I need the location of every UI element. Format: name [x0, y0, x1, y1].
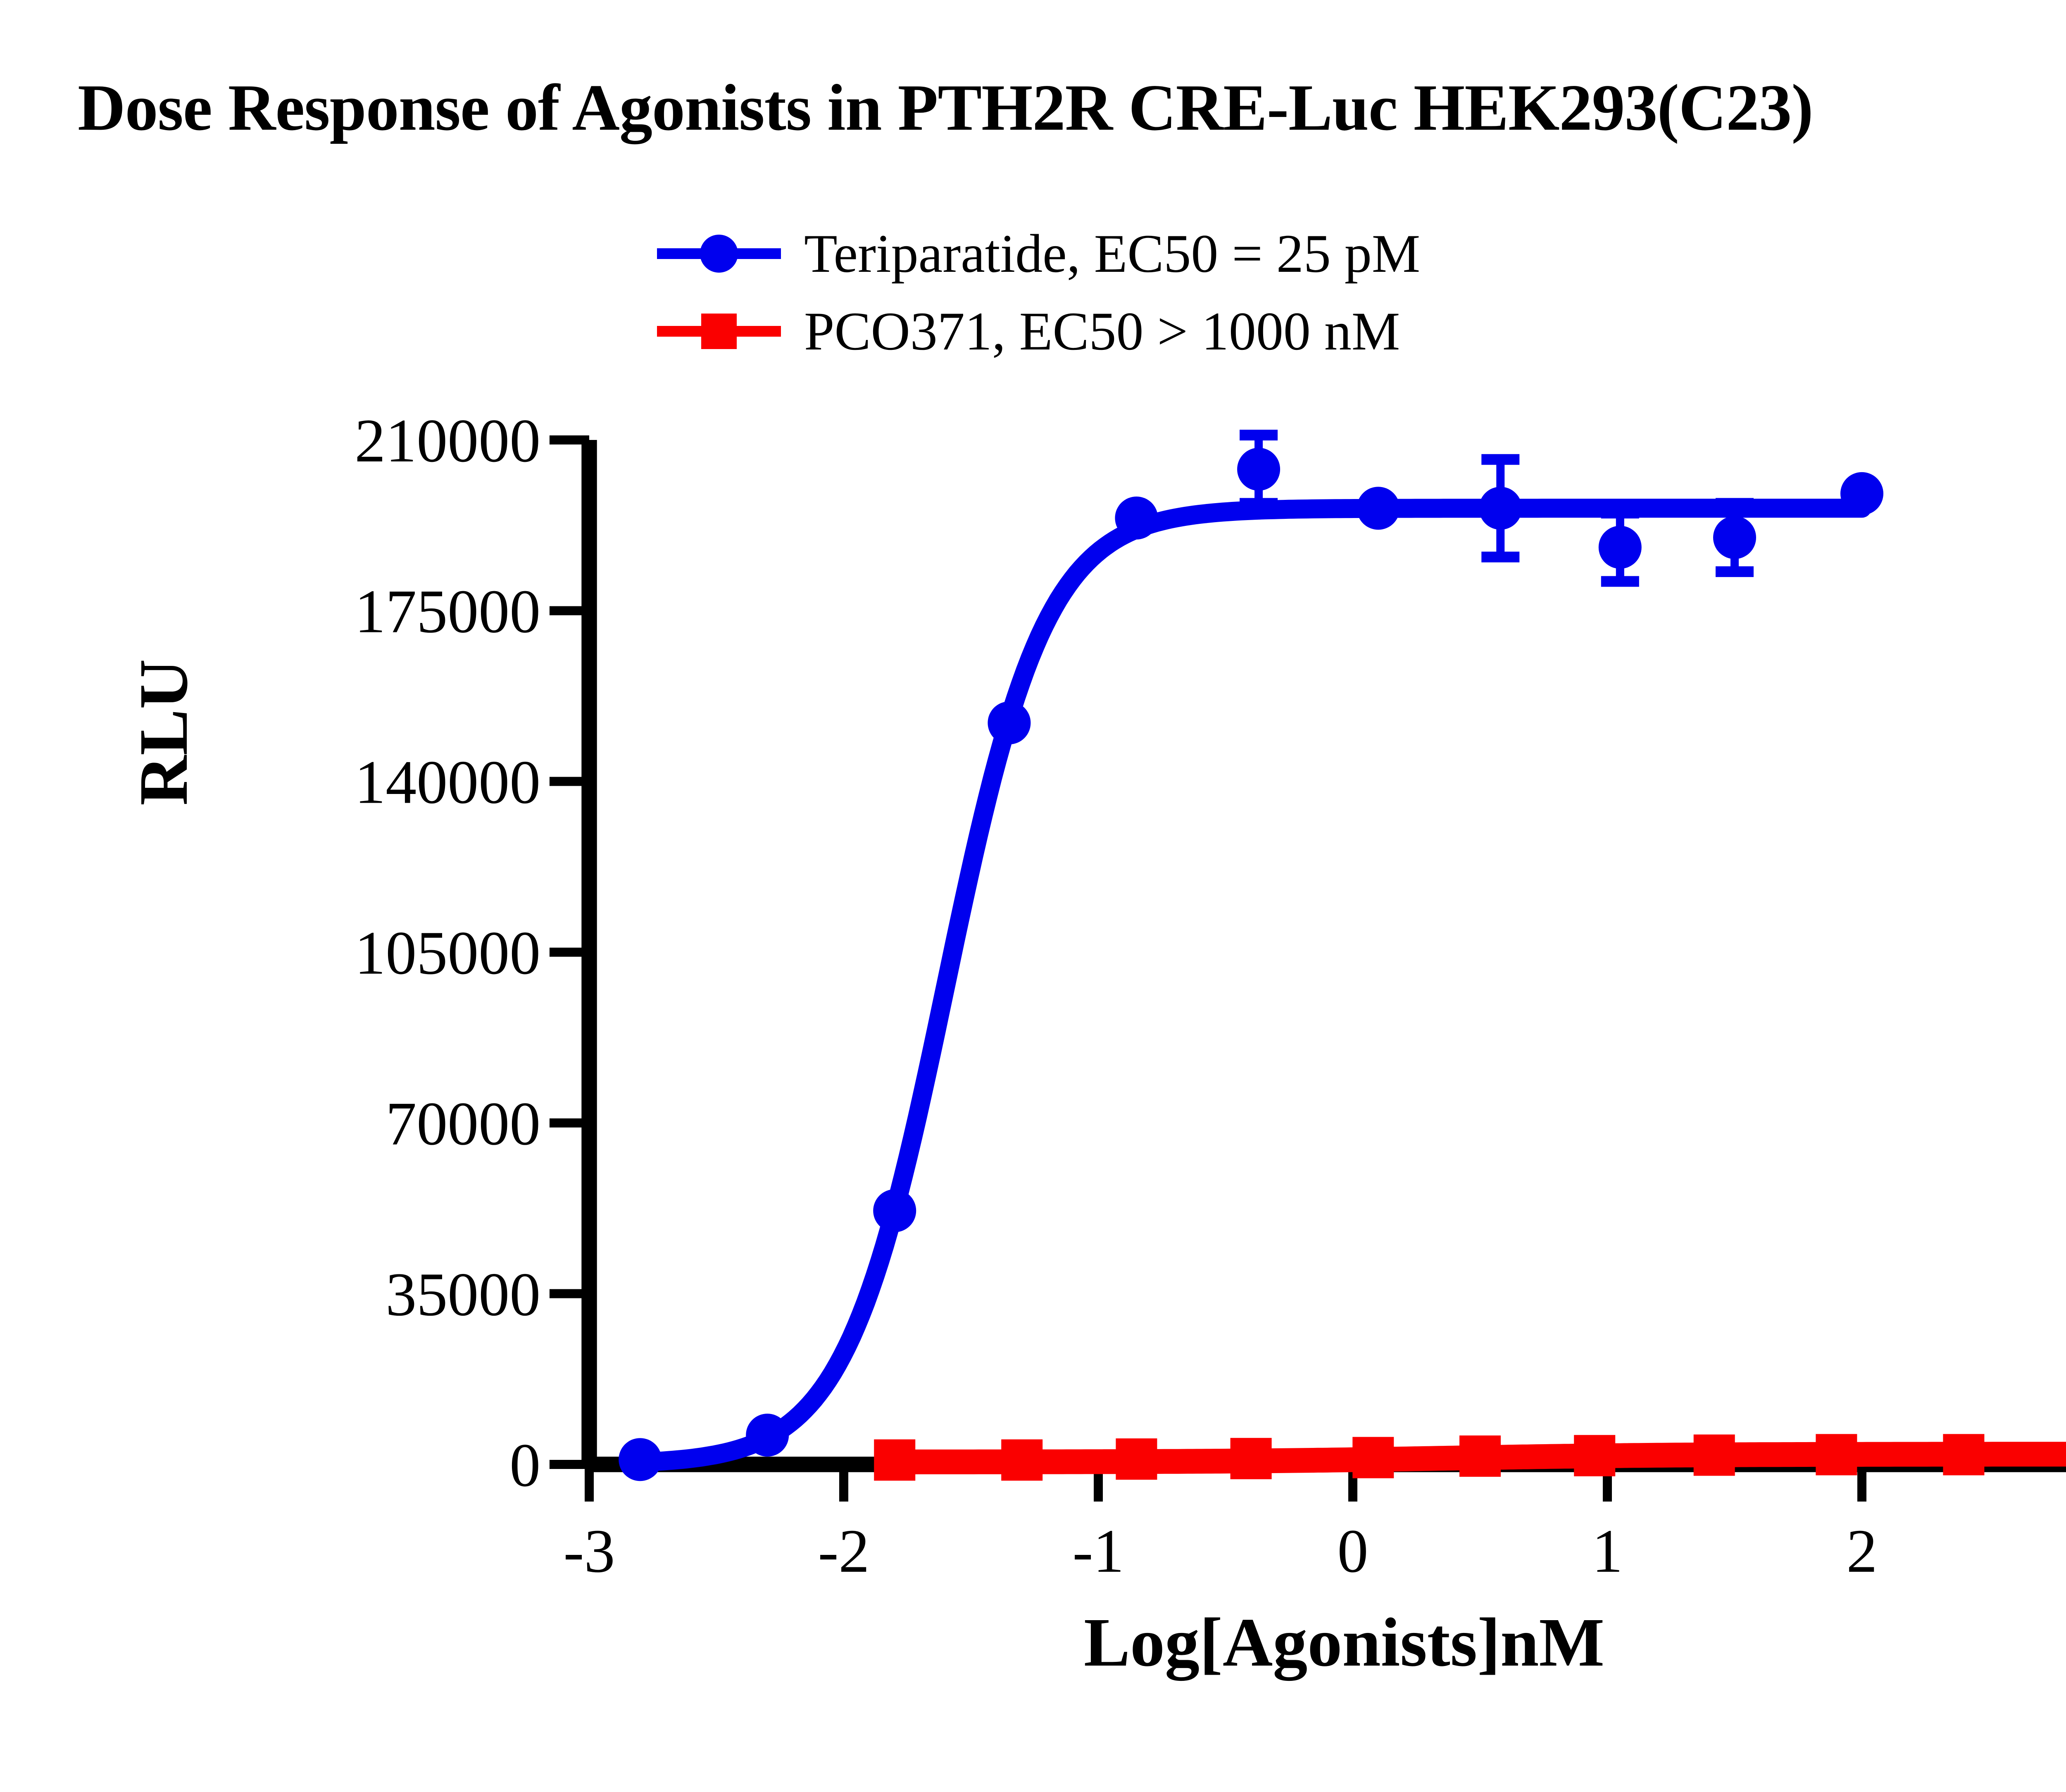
data-point-square[interactable] — [874, 1439, 915, 1481]
chart-page: Dose Response of Agonists in PTH2R CRE-L… — [0, 0, 2066, 1792]
series-layer — [619, 435, 2066, 1481]
x-tick-label: 2 — [1847, 1517, 1878, 1585]
data-point-circle[interactable] — [1115, 497, 1158, 540]
data-point-circle[interactable] — [1479, 487, 1522, 530]
data-point-circle[interactable] — [746, 1414, 789, 1457]
data-point-square[interactable] — [1694, 1435, 1735, 1476]
fit-curve — [640, 508, 1862, 1462]
data-point-square[interactable] — [1943, 1434, 1984, 1475]
series-pco371 — [874, 1434, 2066, 1481]
data-point-circle[interactable] — [1713, 516, 1756, 559]
data-point-circle[interactable] — [873, 1189, 916, 1232]
y-tick-label: 210000 — [355, 406, 540, 475]
y-tick-label: 0 — [509, 1431, 540, 1500]
data-point-circle[interactable] — [988, 701, 1031, 744]
data-point-circle[interactable] — [1599, 526, 1642, 569]
data-point-square[interactable] — [1001, 1439, 1043, 1481]
x-tick-label: -2 — [818, 1517, 870, 1585]
data-point-square[interactable] — [1231, 1438, 1272, 1479]
y-tick-label: 35000 — [386, 1260, 540, 1329]
data-point-circle[interactable] — [1357, 487, 1400, 530]
data-point-square[interactable] — [1116, 1438, 1157, 1480]
x-tick-label: 1 — [1592, 1517, 1623, 1585]
y-tick-label: 140000 — [355, 748, 540, 817]
data-point-square[interactable] — [1352, 1437, 1394, 1478]
data-point-square[interactable] — [1459, 1436, 1501, 1477]
x-tick-label: 0 — [1338, 1517, 1369, 1585]
plot-area: 03500070000105000140000175000210000-3-2-… — [0, 0, 2066, 1792]
series-teriparatide — [619, 435, 1883, 1481]
y-tick-label: 175000 — [355, 577, 540, 646]
axes-layer: 03500070000105000140000175000210000-3-2-… — [355, 406, 2066, 1585]
data-point-circle[interactable] — [619, 1438, 662, 1481]
data-point-circle[interactable] — [1840, 472, 1883, 515]
data-point-circle[interactable] — [1237, 448, 1280, 491]
data-point-square[interactable] — [1574, 1435, 1615, 1476]
x-tick-label: -3 — [564, 1517, 615, 1585]
data-point-square[interactable] — [1816, 1434, 1857, 1475]
x-tick-label: -1 — [1073, 1517, 1124, 1585]
y-tick-label: 70000 — [386, 1089, 540, 1158]
y-tick-label: 105000 — [355, 919, 540, 987]
